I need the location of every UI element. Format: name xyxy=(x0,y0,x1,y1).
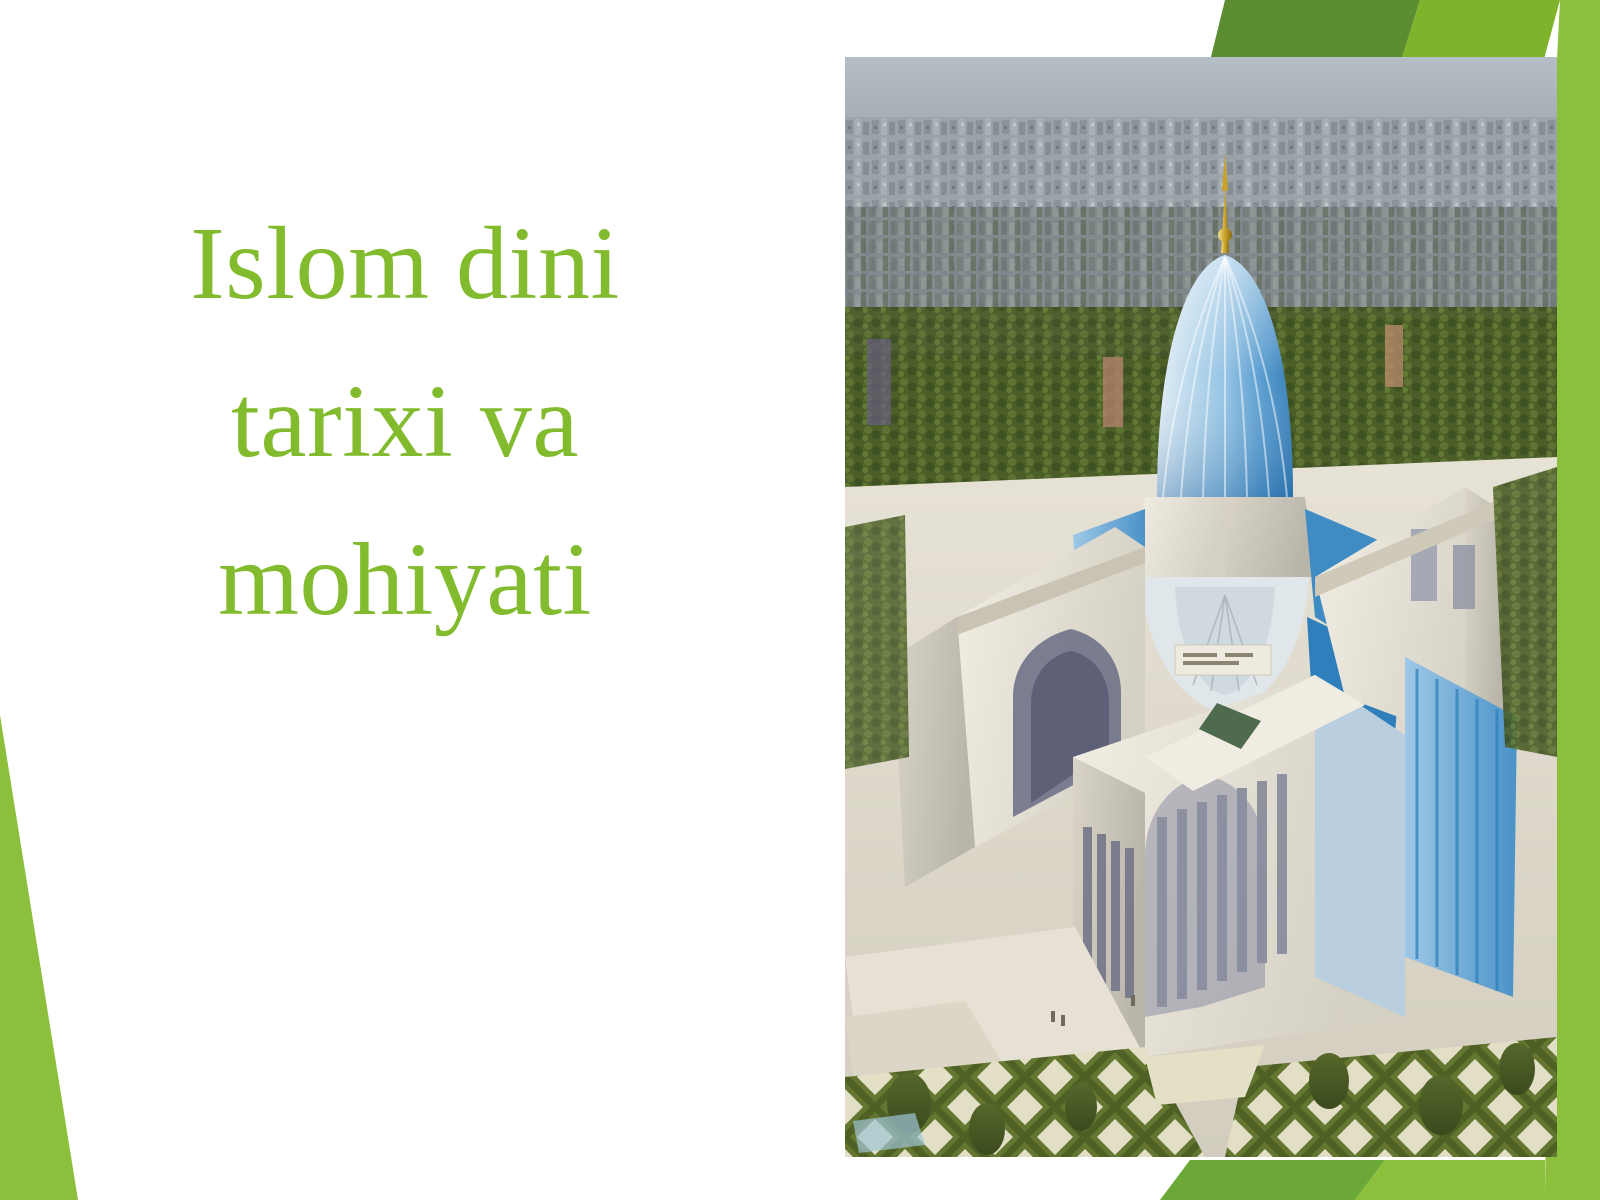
title-line-1: Islom dini xyxy=(60,185,750,343)
page-title: Islom dini tarixi va mohiyati xyxy=(60,185,750,659)
title-line-3: mohiyati xyxy=(60,501,750,659)
mosque-photo xyxy=(845,57,1557,1157)
presentation-slide: Islom dini tarixi va mohiyati xyxy=(0,0,1600,1200)
left-wedge-shape xyxy=(0,715,78,1200)
bottom-right-dark-band-shape xyxy=(1160,1160,1385,1200)
bottom-right-light-band-shape xyxy=(1355,1160,1545,1200)
mosque-photo-artwork xyxy=(845,57,1557,1157)
title-line-2: tarixi va xyxy=(60,343,750,501)
